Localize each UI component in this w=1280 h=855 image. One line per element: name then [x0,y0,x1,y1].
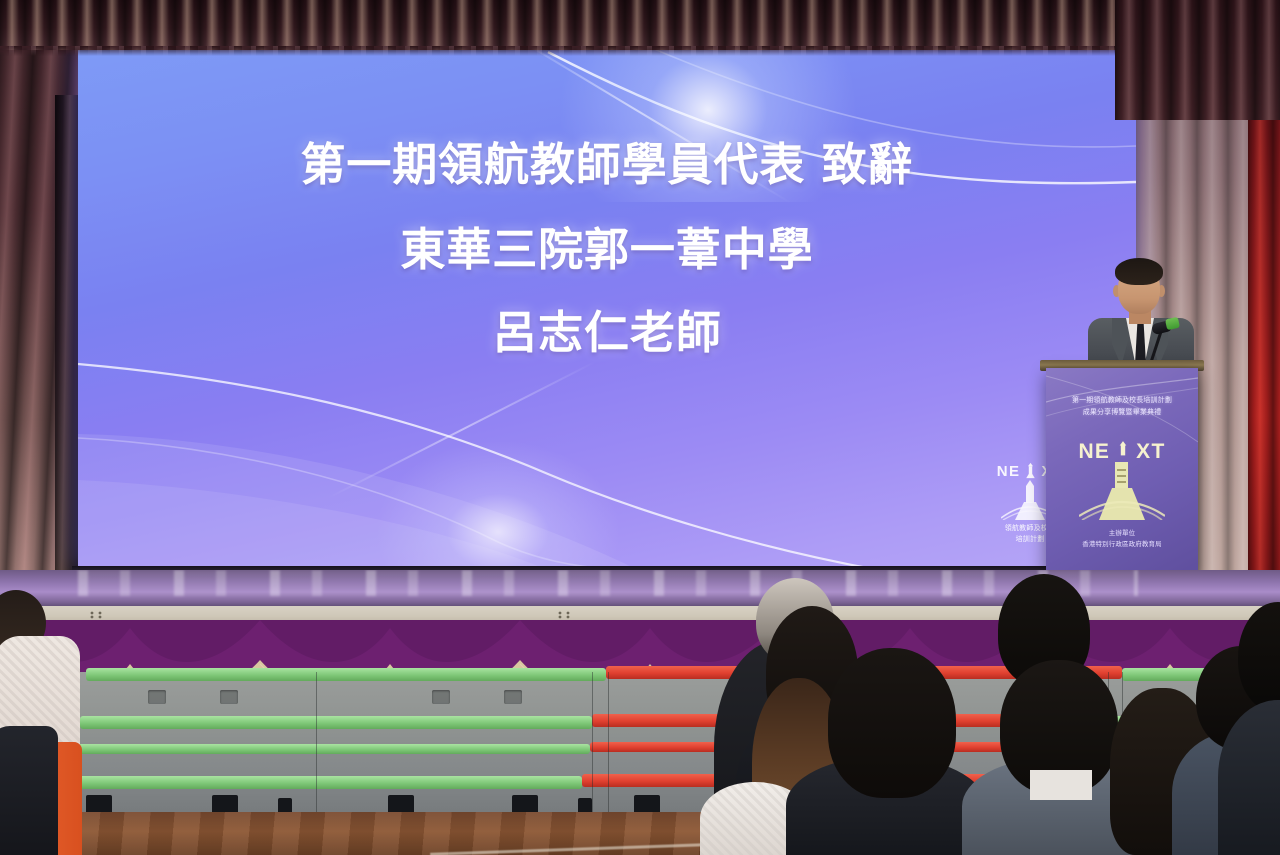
lighthouse-icon-glyph [1112,440,1134,462]
podium-lighthouse-illustration [1079,462,1165,520]
speaker-hair [1115,258,1163,285]
next-programme-logo-on-podium: NE XT [1046,440,1198,520]
logo-wordmark-prefix: NE [997,464,1021,479]
podium-event-title: 第一期領航教師及校長培訓計劃 成果分享博覽暨畢業典禮 [1046,394,1198,419]
podium-organiser-text: 主辦單位 香港特別行政區政府教育局 [1046,528,1198,551]
podium-organiser-label: 主辦單位 [1046,528,1198,540]
speaker-at-podium [1082,258,1202,376]
screen-text-block: 第一期領航教師學員代表 致辭 東華三院郭一葦中學 呂志仁老師 [78,138,1136,359]
audience-head-short-hair-center [828,648,956,798]
podium-organiser-name: 香港特別行政區政府教育局 [1046,539,1198,551]
stage-top-valance-right [1115,0,1280,120]
podium-front-panel: 第一期領航教師及校長培訓計劃 成果分享博覽暨畢業典禮 NE XT [1046,368,1198,573]
podium-title-line-2: 成果分享博覽暨畢業典禮 [1046,406,1198,418]
led-presentation-screen: 第一期領航教師學員代表 致辭 東華三院郭一葦中學 呂志仁老師 NE XT [78,42,1136,570]
screen-lens-flare-bottom [378,442,618,570]
podium-logo-wordmark: NE XT [1046,440,1198,462]
ceremony-stage-photo: 第一期領航教師學員代表 致辭 東華三院郭一葦中學 呂志仁老師 NE XT [0,0,1280,855]
stage-top-valance [0,0,1280,50]
podium-title-line-1: 第一期領航教師及校長培訓計劃 [1046,394,1198,406]
screen-heading-line-1: 第一期領航教師學員代表 致辭 [78,138,1136,191]
lighthouse-icon [1022,462,1039,479]
podium-logo-wordmark-prefix: NE [1078,441,1110,462]
screen-heading-line-2: 東華三院郭一葦中學 [78,223,1136,276]
lighthouse-icon-glyph [1022,462,1039,479]
audience-body-dark-left [0,726,58,855]
screen-surface: 第一期領航教師學員代表 致辭 東華三院郭一葦中學 呂志仁老師 NE XT [78,42,1136,570]
screen-flare-streak-bottom [328,361,596,499]
audience-collar-white [1030,770,1092,800]
screen-heading-line-3: 呂志仁老師 [78,306,1136,359]
lighthouse-icon [1112,440,1134,462]
audience-foreground [0,560,1280,855]
podium-logo-wordmark-suffix: XT [1136,441,1165,462]
